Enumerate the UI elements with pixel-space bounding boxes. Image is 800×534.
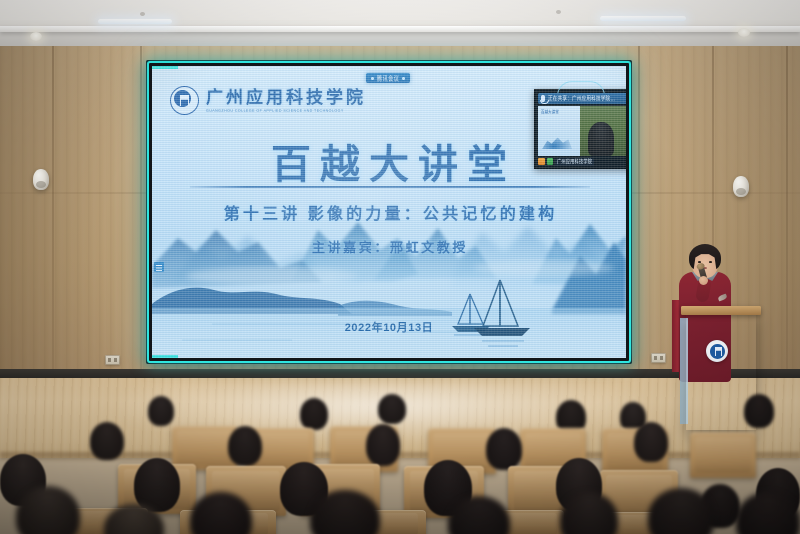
- pip-slide-caption: 百越大讲堂: [541, 108, 559, 115]
- microphone-icon: [541, 95, 545, 102]
- wall-shadow-left: [0, 46, 150, 376]
- meeting-badge-label: 腾讯会议: [377, 73, 399, 82]
- school-name-en: GUANGZHOU COLLEGE OF APPLIED SCIENCE AND…: [206, 108, 366, 113]
- pip-titlebar-text: 正在共享：广州应用科技学院…: [548, 95, 615, 103]
- pip-mic-status-icon: [547, 158, 553, 165]
- audience-head: [148, 396, 174, 426]
- pip-slide-mountains: [542, 135, 572, 149]
- audience: [0, 392, 800, 534]
- pip-participant-name: 广州应用科技学院: [555, 158, 594, 166]
- pip-app-icon: [538, 158, 545, 165]
- audience-head: [16, 486, 80, 534]
- ceiling-lip: [0, 26, 800, 32]
- document-icon[interactable]: [154, 262, 164, 272]
- school-crest-icon: [170, 86, 199, 115]
- audience-head: [486, 428, 522, 470]
- wall-speaker-icon: [33, 169, 49, 190]
- title-divider: [190, 186, 590, 188]
- signal-icon: [371, 77, 374, 80]
- ink-landscape-svg: [152, 208, 626, 358]
- ceiling-strip-light: [98, 19, 172, 24]
- auditorium-seat: [690, 432, 756, 478]
- audience-head: [366, 424, 400, 466]
- slide-date: 2022年10月13日: [152, 319, 626, 335]
- meeting-pip-window[interactable]: · 正在共享：广州应用科技学院… 百越大讲堂 广州应用科技学院: [534, 89, 626, 169]
- institution-logo: 广州应用科技学院 GUANGZHOU COLLEGE OF APPLIED SC…: [170, 86, 366, 115]
- dot-icon: [402, 77, 405, 80]
- lecture-hall-photo: 广州应用科技学院 GUANGZHOU COLLEGE OF APPLIED SC…: [0, 0, 800, 534]
- audience-head: [634, 422, 668, 462]
- speaker-hand: [699, 276, 708, 285]
- pip-shared-slide: 百越大讲堂: [538, 106, 580, 156]
- ceiling-strip-light: [600, 16, 686, 21]
- ceiling-sensor: [140, 12, 145, 16]
- screen-accent-bottom: [152, 355, 178, 358]
- ceiling-sensor: [556, 10, 561, 14]
- pip-presenter-silhouette: [588, 122, 614, 156]
- pip-bracket-label: ·: [581, 80, 583, 87]
- audience-head: [378, 394, 406, 424]
- slide-surface: 广州应用科技学院 GUANGZHOU COLLEGE OF APPLIED SC…: [152, 66, 626, 358]
- school-crest-icon: [706, 340, 728, 362]
- wall-speaker-icon: [733, 176, 749, 197]
- ceiling-downlight: [30, 32, 42, 41]
- audience-head: [300, 398, 328, 430]
- audience-head: [744, 394, 774, 428]
- podium-top-surface: [681, 306, 761, 315]
- wall-outlet-icon: [105, 355, 120, 365]
- audience-head: [90, 422, 124, 460]
- pip-titlebar: 正在共享：广州应用科技学院…: [538, 93, 626, 104]
- pip-footer: 广州应用科技学院: [538, 157, 626, 166]
- slide-subtitle-speaker: 主讲嘉宾：邢虹文教授: [152, 237, 626, 256]
- meeting-badge[interactable]: 腾讯会议: [366, 73, 410, 83]
- school-name-cn: 广州应用科技学院: [206, 89, 366, 107]
- ink-landscape-artwork: [152, 208, 626, 358]
- slide-subtitle-lecture: 第十三讲 影像的力量：公共记忆的建构: [152, 200, 626, 224]
- audience-head: [228, 426, 262, 466]
- ceiling-downlight: [738, 28, 750, 37]
- pip-video-area: 百越大讲堂: [538, 106, 626, 156]
- wall-outlet-icon: [651, 353, 666, 363]
- speaker-eye-right: [709, 261, 712, 263]
- screen-accent-top: [152, 66, 178, 69]
- led-screen: 广州应用科技学院 GUANGZHOU COLLEGE OF APPLIED SC…: [146, 60, 632, 364]
